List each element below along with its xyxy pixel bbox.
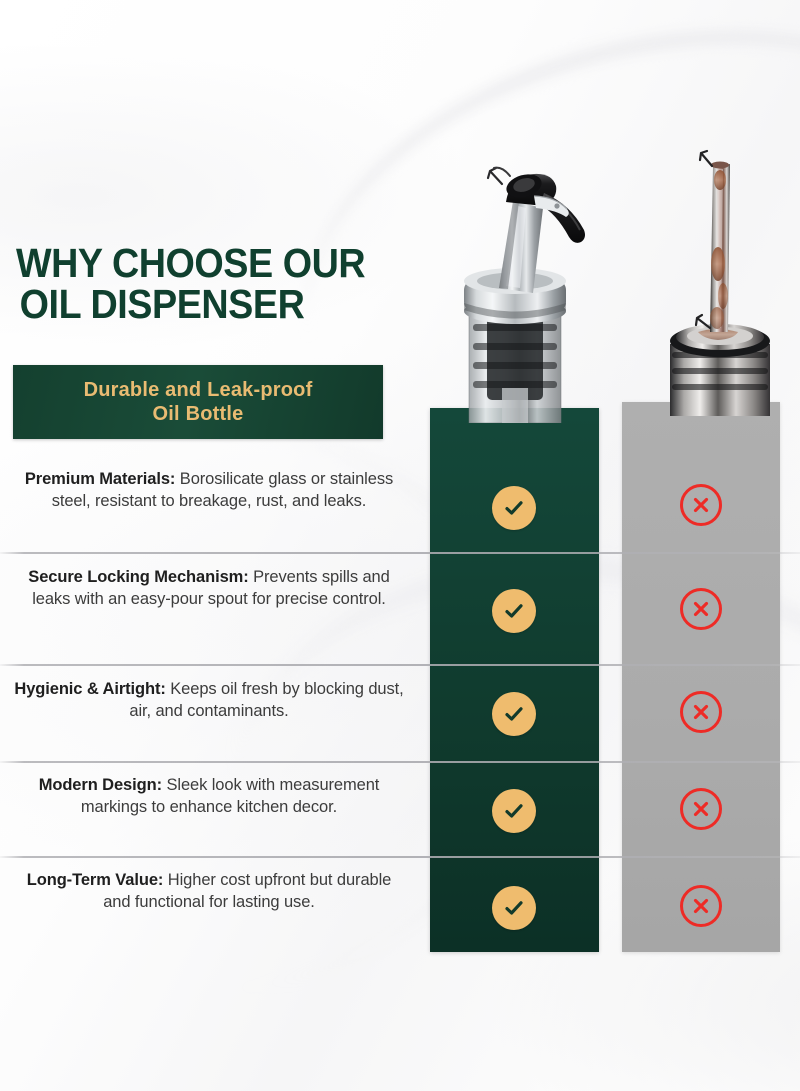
- cross-icon: [680, 588, 722, 630]
- feature-title-5: Long-Term Value:: [27, 871, 164, 889]
- competitor-cross-cell-3: [680, 691, 724, 735]
- page-title: WHY CHOOSE OUR OIL DISPENSER: [16, 243, 416, 324]
- cross-icon: [680, 691, 722, 733]
- competitor-cross-cell-2: [680, 588, 724, 632]
- our-check-cell-1: [492, 486, 536, 530]
- our-check-cell-2: [492, 589, 536, 633]
- feature-desc-3: Keeps oil fresh by blocking dust, air, a…: [129, 680, 403, 720]
- row-divider-2: [0, 664, 800, 666]
- check-icon: [492, 692, 536, 736]
- cross-icon: [680, 885, 722, 927]
- check-icon: [492, 886, 536, 930]
- check-icon: [492, 789, 536, 833]
- feature-title-1: Premium Materials:: [25, 470, 175, 488]
- row-divider-3: [0, 761, 800, 763]
- headline-line-1: WHY CHOOSE OUR: [16, 243, 384, 284]
- feature-row-text-3: Hygienic & Airtight: Keeps oil fresh by …: [14, 678, 404, 722]
- feature-row-text-2: Secure Locking Mechanism: Prevents spill…: [14, 566, 404, 610]
- subtitle-line-2: Oil Bottle: [153, 402, 244, 426]
- infographic-page: WHY CHOOSE OUR OIL DISPENSER Durable and…: [0, 0, 800, 1091]
- competitor-cross-cell-5: [680, 885, 724, 929]
- subtitle-banner: Durable and Leak-proof Oil Bottle: [13, 365, 383, 439]
- competitor-cross-cell-1: [680, 484, 724, 528]
- feature-row-text-4: Modern Design: Sleek look with measureme…: [14, 774, 404, 818]
- feature-row-text-5: Long-Term Value: Higher cost upfront but…: [14, 869, 404, 913]
- feature-title-2: Secure Locking Mechanism:: [28, 568, 248, 586]
- cross-icon: [680, 788, 722, 830]
- competitor-product-image: [660, 136, 780, 416]
- our-check-cell-5: [492, 886, 536, 930]
- row-divider-1: [0, 552, 800, 554]
- our-check-cell-4: [492, 789, 536, 833]
- feature-title-3: Hygienic & Airtight:: [14, 680, 165, 698]
- check-icon: [492, 589, 536, 633]
- competitor-cross-cell-4: [680, 788, 724, 832]
- cross-icon: [680, 484, 722, 526]
- headline-line-2: OIL DISPENSER: [16, 284, 384, 325]
- feature-title-4: Modern Design:: [39, 776, 162, 794]
- row-divider-4: [0, 856, 800, 858]
- our-check-cell-3: [492, 692, 536, 736]
- subtitle-line-1: Durable and Leak-proof: [84, 378, 313, 402]
- check-icon: [492, 486, 536, 530]
- our-product-image: [440, 138, 590, 423]
- feature-row-text-1: Premium Materials: Borosilicate glass or…: [14, 468, 404, 512]
